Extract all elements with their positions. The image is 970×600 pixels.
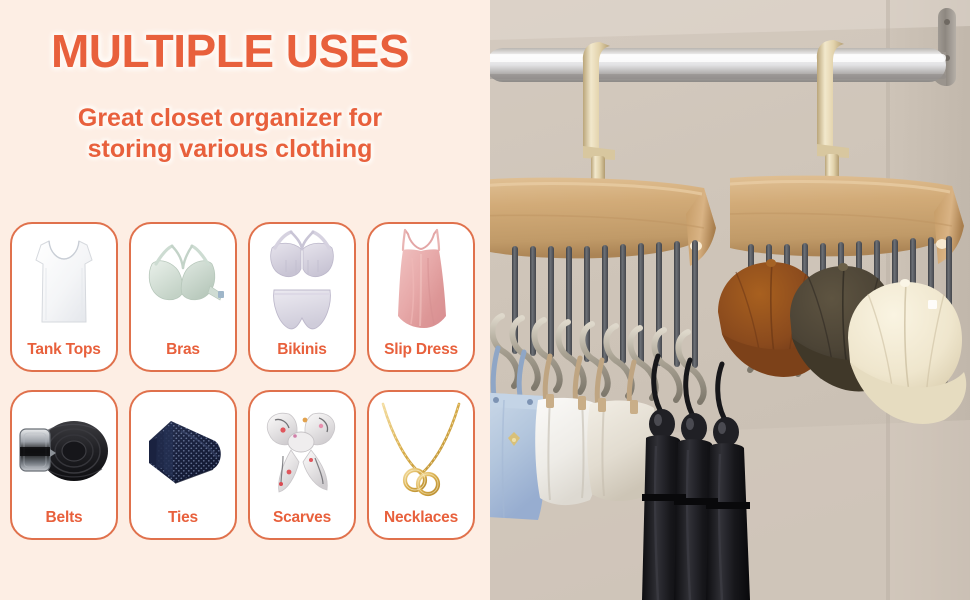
category-card-bras[interactable]: Bras: [129, 222, 237, 372]
bikini-icon: [250, 228, 354, 336]
category-card-belts[interactable]: Belts: [10, 390, 118, 540]
necklace-icon: [369, 396, 473, 504]
category-card-slip-dress[interactable]: Slip Dress: [367, 222, 475, 372]
product-photo: [490, 0, 970, 600]
page-subtitle: Great closet organizer forstoring variou…: [0, 103, 460, 165]
category-card-scarves[interactable]: Scarves: [248, 390, 356, 540]
tank-top-icon: [12, 228, 116, 336]
category-card-bikinis[interactable]: Bikinis: [248, 222, 356, 372]
category-label: Necklaces: [384, 509, 458, 538]
product-photo-illustration: [490, 0, 970, 600]
infographic-root: MULTIPLE USES Great closet organizer for…: [0, 0, 970, 600]
category-label: Belts: [46, 509, 83, 538]
bra-icon: [131, 228, 235, 336]
closet-rod: [490, 48, 946, 82]
scarf-icon: [250, 396, 354, 504]
category-label: Ties: [168, 509, 198, 538]
tie-icon: [131, 396, 235, 504]
category-label: Tank Tops: [27, 341, 100, 370]
left-info-panel: MULTIPLE USES Great closet organizer for…: [0, 0, 490, 600]
category-label: Slip Dress: [384, 341, 458, 370]
category-card-necklaces[interactable]: Necklaces: [367, 390, 475, 540]
category-label: Bras: [166, 341, 200, 370]
category-card-tank-tops[interactable]: Tank Tops: [10, 222, 118, 372]
page-title: MULTIPLE USES: [0, 28, 460, 74]
category-card-ties[interactable]: Ties: [129, 390, 237, 540]
category-label: Bikinis: [277, 341, 326, 370]
belt-icon: [12, 396, 116, 504]
slip-dress-icon: [369, 228, 473, 336]
category-label: Scarves: [273, 509, 331, 538]
category-card-grid: Tank Tops: [10, 222, 480, 542]
